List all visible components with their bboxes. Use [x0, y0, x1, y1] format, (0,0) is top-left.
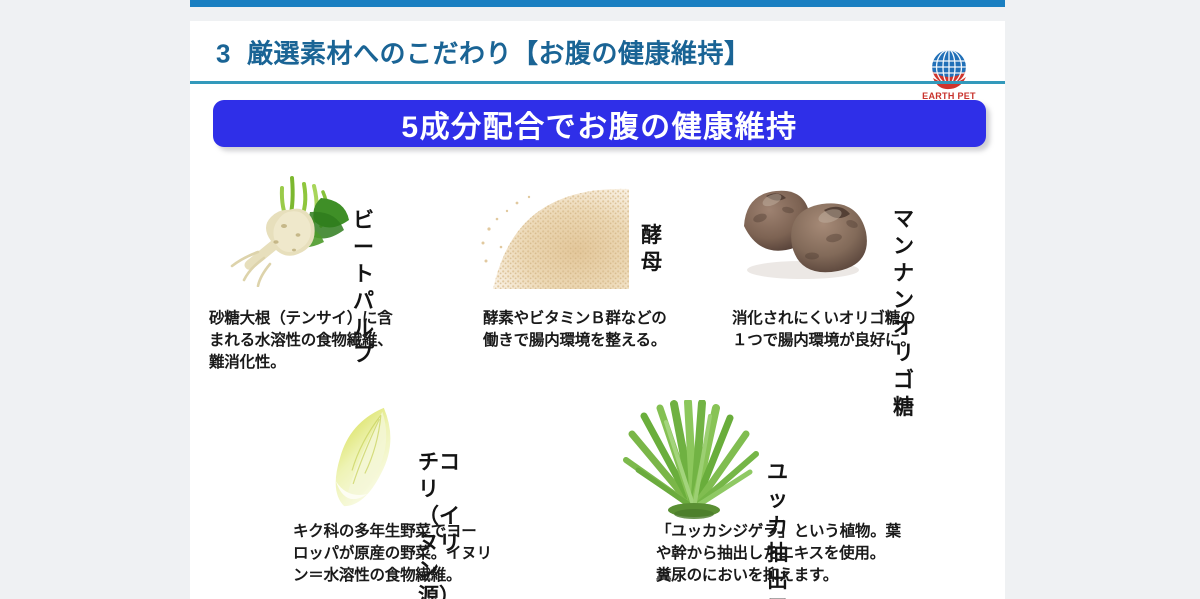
ingredient-label: 酵母	[641, 223, 662, 277]
beet-root-illustration	[218, 172, 368, 287]
slide-viewer: 3厳選素材へのこだわり【お腹の健康維持】	[0, 0, 1200, 599]
yucca-plant-photo	[622, 400, 767, 520]
ingredient-description: 消化されにくいオリゴ糖の １つで腸内環境が良好に。	[732, 308, 997, 352]
slide-sheet: 3厳選素材へのこだわり【お腹の健康維持】	[190, 0, 1005, 599]
chicory-endive-photo	[303, 398, 425, 516]
ingredient-description: 砂糖大根（テンサイ）に含 まれる水溶性の食物繊維、 難消化性。	[209, 308, 479, 374]
ingredient-grid: ビート パルプ 砂糖大根（テンサイ）に含 まれる水溶性の食物繊維、 難消化性。	[190, 0, 1005, 599]
chicory-endive-illustration	[303, 398, 425, 516]
beet-root-photo	[218, 172, 368, 287]
ingredient-description: 酵素やビタミンＢ群などの 働きで腸内環境を整える。	[483, 308, 728, 352]
yucca-plant-illustration	[622, 400, 767, 520]
ingredient-description: 「ユッカシジゲラ」という植物。葉 や幹から抽出したエキスを使用。 糞尿のにおいを…	[656, 521, 956, 587]
yeast-granules-photo	[477, 185, 629, 289]
konjac-tubers-illustration	[730, 172, 887, 291]
konjac-tubers-photo	[730, 172, 887, 291]
ingredient-description: キク科の多年生野菜でヨー ロッパが原産の野菜。イヌリ ン＝水溶性の食物繊維。	[293, 521, 545, 587]
yeast-granules-illustration	[477, 185, 629, 289]
